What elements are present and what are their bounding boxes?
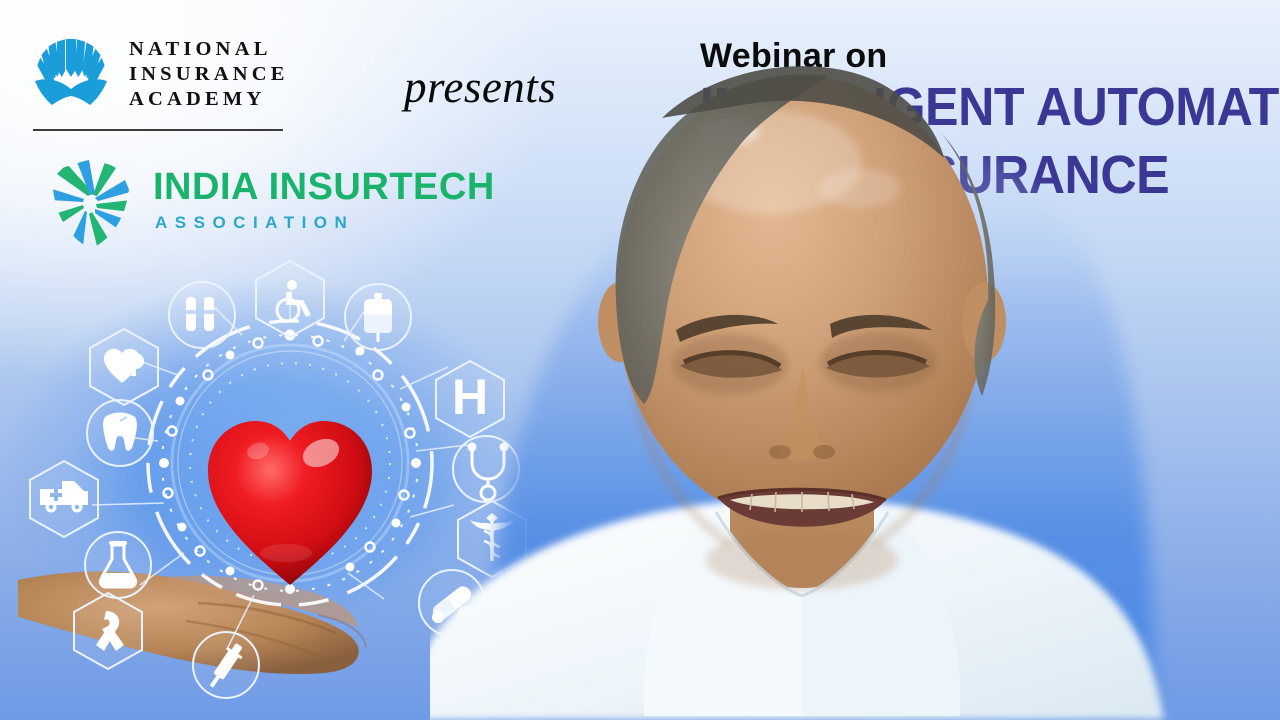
national-insurance-academy-logo: NATIONAL INSURANCE ACADEMY	[33, 33, 288, 131]
pills-capsule-icon	[169, 282, 235, 348]
nia-logo-underline	[33, 129, 283, 131]
nia-line-2: INSURANCE	[129, 62, 289, 87]
nia-logo-text: NATIONAL INSURANCE ACADEMY	[129, 37, 289, 112]
nia-line-1: NATIONAL	[129, 37, 289, 62]
fan-book-logo-icon	[33, 33, 109, 113]
nia-line-3: ACADEMY	[129, 87, 289, 112]
webinar-title-slide: NATIONAL INSURANCE ACADEMY presents	[0, 0, 1280, 720]
presenter-video-feed	[430, 0, 1190, 720]
iia-logo-subtitle: ASSOCIATION	[155, 213, 354, 233]
shield-burst-logo-icon	[48, 157, 134, 251]
